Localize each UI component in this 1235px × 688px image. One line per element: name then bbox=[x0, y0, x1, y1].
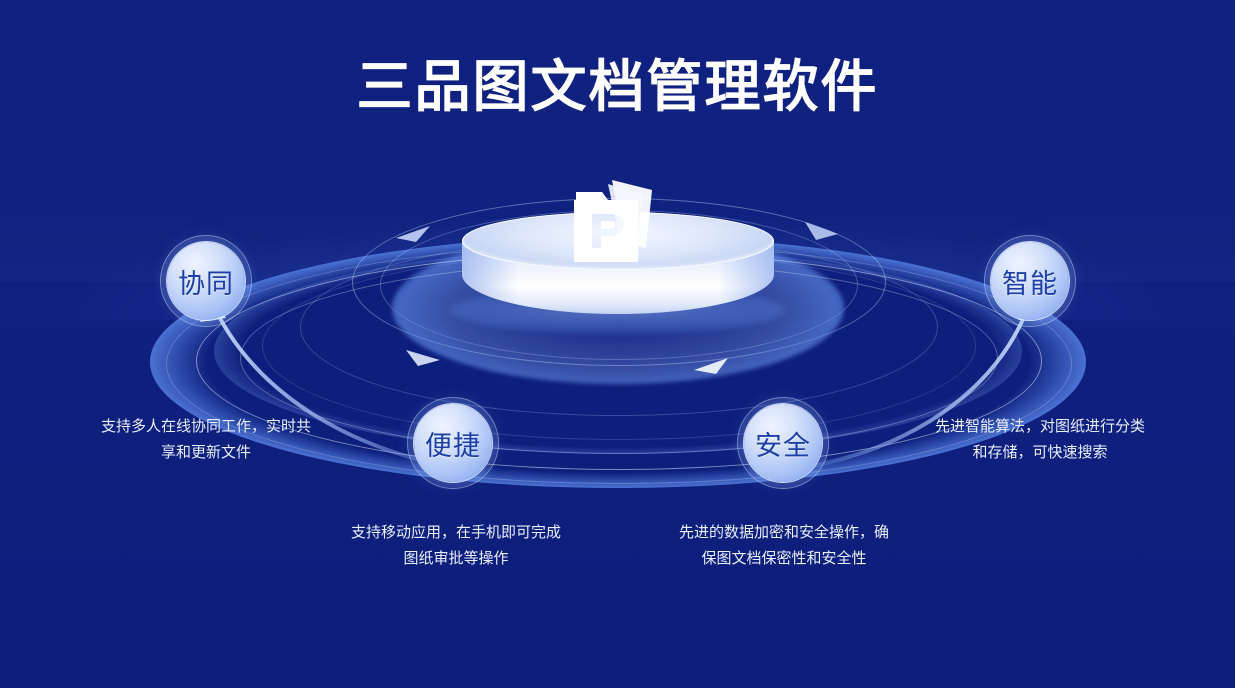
sidebar-item-collab[interactable]: 协同 bbox=[167, 242, 245, 320]
node-label: 便捷 bbox=[425, 424, 481, 463]
caption-collab: 支持多人在线协同工作，实时共 享和更新文件 bbox=[70, 414, 342, 466]
slide-canvas: 三品图文档管理软件 协同 便捷 安全 智能 支持多人在线协同工作，实时共 享和更… bbox=[0, 0, 1235, 688]
caption-smart: 先进智能算法，对图纸进行分类 和存储，可快速搜索 bbox=[900, 414, 1180, 466]
background-gradient-bottom bbox=[0, 282, 1235, 688]
node-label: 智能 bbox=[1002, 262, 1058, 301]
page-title: 三品图文档管理软件 bbox=[0, 55, 1235, 119]
folder-document-p-icon bbox=[568, 170, 664, 270]
caption-convenient: 支持移动应用，在手机即可完成 图纸审批等操作 bbox=[320, 520, 592, 572]
node-label: 安全 bbox=[755, 424, 811, 463]
node-label: 协同 bbox=[178, 262, 234, 301]
sidebar-item-security[interactable]: 安全 bbox=[744, 404, 822, 482]
sidebar-item-smart[interactable]: 智能 bbox=[991, 242, 1069, 320]
caption-security: 先进的数据加密和安全操作，确 保图文档保密性和安全性 bbox=[648, 520, 920, 572]
sidebar-item-convenient[interactable]: 便捷 bbox=[414, 404, 492, 482]
